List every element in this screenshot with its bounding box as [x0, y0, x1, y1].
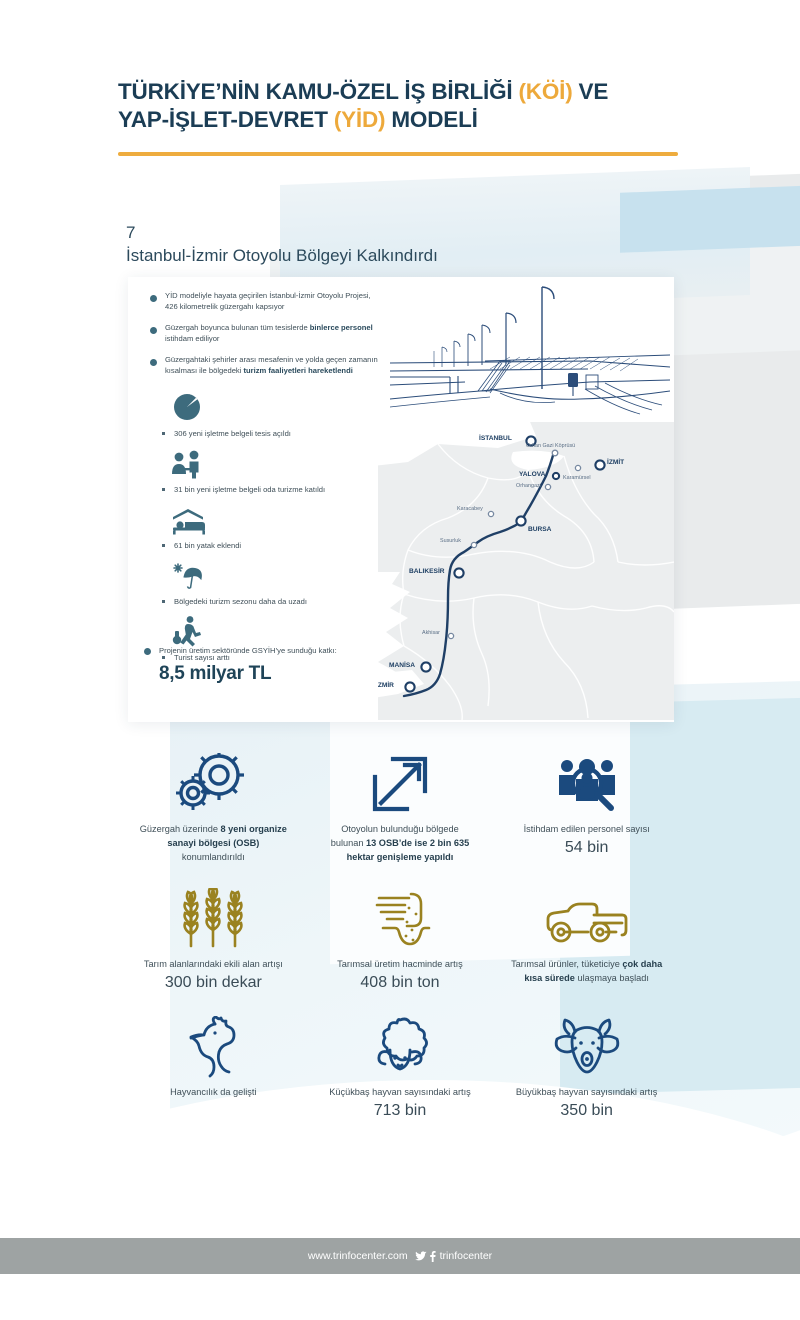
bullet-text: YİD modeliyle hayata geçirilen İstanbul-… — [165, 291, 382, 312]
gsyih-contribution-block: Projenin üretim sektöründe GSYİH’ye sund… — [144, 645, 404, 685]
city-label-izmit: İZMİT — [607, 459, 624, 466]
bullet-text-lead: YİD modeliyle hayata geçirilen İstanbul-… — [165, 291, 371, 311]
city-marker-bursa — [516, 516, 525, 525]
cow-icon — [550, 1011, 624, 1083]
twitter-icon[interactable] — [415, 1251, 427, 1262]
caption-tail: ulaşmaya başladı — [575, 973, 649, 983]
city-marker-manisa — [421, 662, 430, 671]
stat-card-production: Tarımsal üretim hacminde artış 408 bin t… — [307, 883, 494, 993]
city-label-bursa: BURSA — [528, 526, 551, 533]
tourism-stat-line: 61 bin yatak eklendi — [156, 540, 392, 551]
caption-lead: Tarımsal üretim hacminde artış — [337, 959, 463, 969]
stat-value: 408 bin ton — [360, 972, 439, 993]
tourism-stat-line: 306 yeni işletme belgeli tesis açıldı — [156, 428, 392, 439]
title-part-4: MODELİ — [385, 107, 477, 132]
caption-tail: konumlandırıldı — [182, 852, 245, 862]
chicken-icon — [185, 1011, 241, 1083]
city-label-orhangazi: Orhangazi — [516, 483, 541, 489]
gsyih-value: 8,5 milyar TL — [144, 663, 404, 685]
footer-social-handle[interactable]: trinfocenter — [440, 1250, 493, 1262]
wheat-icon — [177, 883, 249, 955]
stat-caption: Otoyolun bulunduğu bölgede bulunan 13 OS… — [324, 822, 476, 864]
expand-arrow-icon — [369, 748, 431, 820]
page-title: TÜRKİYE’NİN KAMU-ÖZEL İŞ BİRLİĞİ (KÖİ) V… — [118, 78, 688, 134]
bullet-dot-icon — [150, 295, 157, 302]
city-label-manisa: MANİSA — [389, 662, 415, 669]
city-marker-balikesir — [454, 568, 463, 577]
city-label-susurluk: Susurluk — [440, 538, 461, 544]
facebook-icon[interactable] — [429, 1251, 436, 1262]
bullet-dot-icon — [150, 327, 157, 334]
title-accent-koi: (KÖİ) — [519, 79, 573, 104]
stat-bullet-icon — [162, 600, 165, 603]
city-label-akhisar: Akhisar — [422, 630, 440, 636]
bullet-item: Güzergahtaki şehirler arası mesafenin ve… — [150, 355, 382, 376]
gsyih-row: Projenin üretim sektöründe GSYİH’ye sund… — [144, 645, 404, 656]
city-marker-susurluk — [471, 542, 476, 547]
section-title: İstanbul-İzmir Otoyolu Bölgeyi Kalkındır… — [126, 243, 438, 269]
stat-value: 300 bin dekar — [165, 972, 262, 993]
stat-value: 350 bin — [560, 1100, 613, 1121]
sheep-icon — [367, 1011, 433, 1083]
caption-lead: Tarımsal ürünler, tüketiciye — [511, 959, 622, 969]
city-marker-izmir — [405, 682, 414, 691]
bullet-list: YİD modeliyle hayata geçirilen İstanbul-… — [150, 291, 382, 388]
stat-value: 54 bin — [565, 837, 609, 858]
route-map: İSTANBUL İZMİT YALOVA BURSA BALIKESİR MA… — [378, 422, 674, 720]
city-label-balikesir: BALIKESİR — [409, 568, 445, 575]
stat-caption: Güzergah üzerinde 8 yeni organize sanayi… — [137, 822, 289, 864]
city-marker-izmit — [595, 460, 604, 469]
city-marker-yalova — [553, 473, 559, 479]
stat-bullet-icon — [162, 488, 165, 491]
bullet-item: Güzergah boyunca bulunan tüm tesislerde … — [150, 323, 382, 344]
section-heading: 7 İstanbul-İzmir Otoyolu Bölgeyi Kalkınd… — [126, 222, 438, 269]
gsyih-label: Projenin üretim sektöründe GSYİH’ye sund… — [159, 645, 337, 656]
city-marker-karamursel — [575, 465, 580, 470]
bullet-dot-icon — [150, 359, 157, 366]
stat-caption: Büyükbaş hayvan sayısındaki artış — [511, 1085, 663, 1099]
caption-lead: Tarım alanlarındaki ekili alan artışı — [144, 959, 283, 969]
stat-bullet-icon — [162, 432, 165, 435]
stat-card-livestock: Hayvancılık da gelişti — [120, 1011, 307, 1121]
stat-card-osb-new: Güzergah üzerinde 8 yeni organize sanayi… — [120, 748, 307, 865]
city-label-yalova: YALOVA — [519, 471, 545, 478]
city-label-izmir: İZMİR — [378, 682, 394, 689]
employment-search-icon — [553, 748, 621, 820]
seeding-hand-icon — [365, 883, 435, 955]
stat-value: 713 bin — [374, 1100, 427, 1121]
tourism-stat-label: 31 bin yeni işletme belgeli oda turizme … — [174, 484, 325, 495]
stat-caption: Küçükbaş hayvan sayısındaki artış — [324, 1085, 476, 1099]
background-shape-blue-tab — [620, 183, 800, 253]
title-accent-yid: (YİD) — [334, 107, 386, 132]
caption-lead: İstihdam edilen personel sayısı — [524, 824, 650, 834]
tourism-stat-item: Bölgedeki turizm sezonu daha da uzadı — [156, 555, 392, 607]
pie-chart-icon — [156, 387, 392, 423]
stats-grid: Güzergah üzerinde 8 yeni organize sanayi… — [120, 748, 680, 1121]
title-underline-rule — [118, 152, 678, 156]
footer-website-url[interactable]: www.trinfocenter.com — [308, 1250, 408, 1262]
city-label-orhangazi-koprusu: Orhan Gazi Köprüsü — [526, 443, 575, 449]
city-label-karacabey: Karacabey — [457, 506, 483, 512]
header: TÜRKİYE’NİN KAMU-ÖZEL İŞ BİRLİĞİ (KÖİ) V… — [118, 78, 688, 134]
caption-lead: Güzergah üzerinde — [140, 824, 221, 834]
section-number: 7 — [126, 222, 438, 243]
tourism-stat-label: Bölgedeki turizm sezonu daha da uzadı — [174, 596, 307, 607]
stat-bullet-icon — [162, 544, 165, 547]
city-label-karamursel: Karamürsel — [563, 475, 591, 481]
bullet-text-bold: turizm faaliyetleri hareketlendi — [244, 366, 353, 375]
bullet-dot-icon — [144, 648, 151, 655]
title-part-2: VE — [573, 79, 609, 104]
tourism-stat-label: 61 bin yatak eklendi — [174, 540, 241, 551]
stat-caption: İstihdam edilen personel sayısı — [511, 822, 663, 836]
bullet-text-bold: binlerce personel — [310, 323, 373, 332]
tourism-stat-item: 61 bin yatak eklendi — [156, 499, 392, 551]
stat-card-large-livestock: Büyükbaş hayvan sayısındaki artış 350 bi… — [493, 1011, 680, 1121]
stat-card-employment: İstihdam edilen personel sayısı 54 bin — [493, 748, 680, 865]
caption-lead: Küçükbaş hayvan sayısındaki artış — [329, 1087, 470, 1097]
tourism-stat-item: 31 bin yeni işletme belgeli oda turizme … — [156, 443, 392, 495]
city-label-istanbul: İSTANBUL — [479, 435, 512, 442]
tourism-stat-label: 306 yeni işletme belgeli tesis açıldı — [174, 428, 291, 439]
bullet-text-lead: Güzergah boyunca bulunan tüm tesislerde — [165, 323, 310, 332]
title-part-1: TÜRKİYE’NİN KAMU-ÖZEL İŞ BİRLİĞİ — [118, 79, 519, 104]
pickup-truck-icon — [544, 883, 630, 955]
tourism-stat-line: Bölgedeki turizm sezonu daha da uzadı — [156, 596, 392, 607]
tourism-stat-line: 31 bin yeni işletme belgeli oda turizme … — [156, 484, 392, 495]
city-marker-orhangazi — [545, 484, 550, 489]
tourism-stat-item: 306 yeni işletme belgeli tesis açıldı — [156, 387, 392, 439]
city-marker-orhangazi-koprusu — [552, 450, 558, 456]
stat-card-osb-expansion: Otoyolun bulunduğu bölgede bulunan 13 OS… — [307, 748, 494, 865]
tourism-stat-list: 306 yeni işletme belgeli tesis açıldı 31… — [156, 387, 392, 667]
title-part-3: YAP-İŞLET-DEVRET — [118, 107, 334, 132]
gears-icon — [175, 748, 251, 820]
bullet-text: Güzergahtaki şehirler arası mesafenin ve… — [165, 355, 382, 376]
bed-icon — [156, 499, 392, 535]
stat-card-farmland: Tarım alanlarındaki ekili alan artışı 30… — [120, 883, 307, 993]
bullet-item: YİD modeliyle hayata geçirilen İstanbul-… — [150, 291, 382, 312]
content-card: YİD modeliyle hayata geçirilen İstanbul-… — [128, 277, 674, 722]
stat-card-small-livestock: Küçükbaş hayvan sayısındaki artış 713 bi… — [307, 1011, 494, 1121]
bullet-text-tail: istihdam ediliyor — [165, 334, 219, 343]
stat-caption: Tarımsal ürünler, tüketiciye çok daha kı… — [511, 957, 663, 985]
city-marker-karacabey — [488, 511, 493, 516]
caption-lead: Büyükbaş hayvan sayısındaki artış — [516, 1087, 657, 1097]
stat-caption: Tarımsal üretim hacminde artış — [324, 957, 476, 971]
tourist-luggage-icon — [156, 611, 392, 647]
beach-umbrella-icon — [156, 555, 392, 591]
stat-caption: Hayvancılık da gelişti — [137, 1085, 289, 1099]
stat-caption: Tarım alanlarındaki ekili alan artışı — [137, 957, 289, 971]
caption-lead: Hayvancılık da gelişti — [170, 1087, 256, 1097]
bullet-text: Güzergah boyunca bulunan tüm tesislerde … — [165, 323, 382, 344]
city-marker-akhisar — [448, 633, 453, 638]
people-reception-icon — [156, 443, 392, 479]
footer-bar: www.trinfocenter.com trinfocenter — [0, 1238, 800, 1274]
stat-card-logistics: Tarımsal ürünler, tüketiciye çok daha kı… — [493, 883, 680, 993]
